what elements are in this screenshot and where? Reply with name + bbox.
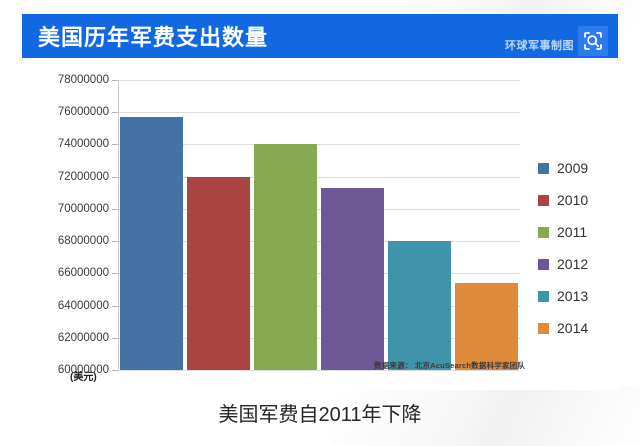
legend-label: 2013 (557, 288, 588, 304)
y-axis-tick (112, 80, 118, 81)
legend-label: 2012 (557, 256, 588, 272)
legend-label: 2014 (557, 320, 588, 336)
brand-label: 环球军事制图 (505, 37, 574, 53)
y-axis-unit-label: (美元) (70, 368, 97, 383)
y-axis-tick-label: 68000000 (58, 235, 109, 247)
legend-swatch-icon (538, 195, 549, 206)
bar-2013[interactable] (388, 241, 451, 370)
legend-item-2012[interactable]: 2012 (538, 256, 588, 272)
y-axis-tick-label: 66000000 (58, 267, 109, 279)
y-axis-tick-label: 62000000 (58, 332, 109, 344)
y-axis-tick (112, 177, 118, 178)
gridline (118, 80, 520, 81)
bar-2011[interactable] (254, 144, 317, 370)
legend-swatch-icon (538, 291, 549, 302)
y-axis-tick (112, 338, 118, 339)
y-axis-line (118, 80, 119, 370)
legend-label: 2009 (557, 160, 588, 176)
bar-2009[interactable] (120, 117, 183, 370)
legend-item-2011[interactable]: 2011 (538, 224, 588, 240)
y-axis-tick-label: 64000000 (58, 300, 109, 312)
page-title: 美国历年军费支出数量 (38, 20, 268, 52)
legend-item-2014[interactable]: 2014 (538, 320, 588, 336)
caption-text: 美国军费自2011年下降 (0, 398, 640, 427)
y-axis-tick (112, 306, 118, 307)
bar-2010[interactable] (187, 177, 250, 370)
y-axis-tick-label: 76000000 (58, 106, 109, 118)
legend-swatch-icon (538, 227, 549, 238)
y-axis-tick-label: 74000000 (58, 138, 109, 150)
gridline (118, 112, 520, 113)
legend-item-2010[interactable]: 2010 (538, 192, 588, 208)
plot-area: 7800000076000000740000007200000070000000… (118, 80, 520, 370)
legend-swatch-icon (538, 259, 549, 270)
source-note: 数据来源： 北京AcuSearch数据科学家团队 (374, 360, 525, 371)
y-axis-tick (112, 370, 118, 371)
brand-watermark: 环球军事制图 (505, 26, 608, 56)
legend-swatch-icon (538, 163, 549, 174)
screenshot-root: 美国历年军费支出数量 环球军事制图 7800000076000000740000… (0, 0, 640, 446)
y-axis-tick (112, 144, 118, 145)
bar-2012[interactable] (321, 188, 384, 370)
legend-label: 2011 (557, 224, 587, 240)
y-axis-tick (112, 273, 118, 274)
y-axis-tick (112, 241, 118, 242)
y-axis-tick (112, 112, 118, 113)
chart-title-bar: 美国历年军费支出数量 环球军事制图 (22, 14, 618, 58)
y-axis-tick-label: 70000000 (58, 203, 109, 215)
legend-item-2013[interactable]: 2013 (538, 288, 588, 304)
legend-item-2009[interactable]: 2009 (538, 160, 588, 176)
chart-canvas: 7800000076000000740000007200000070000000… (22, 62, 618, 390)
scan-qr-icon[interactable] (578, 26, 608, 56)
y-axis-tick (112, 209, 118, 210)
y-axis-tick-label: 72000000 (58, 171, 109, 183)
bar-2014[interactable] (455, 283, 518, 370)
chart-legend: 200920102011201220132014 (538, 160, 588, 336)
y-axis-tick-label: 78000000 (58, 74, 109, 86)
legend-swatch-icon (538, 323, 549, 334)
legend-label: 2010 (557, 192, 588, 208)
